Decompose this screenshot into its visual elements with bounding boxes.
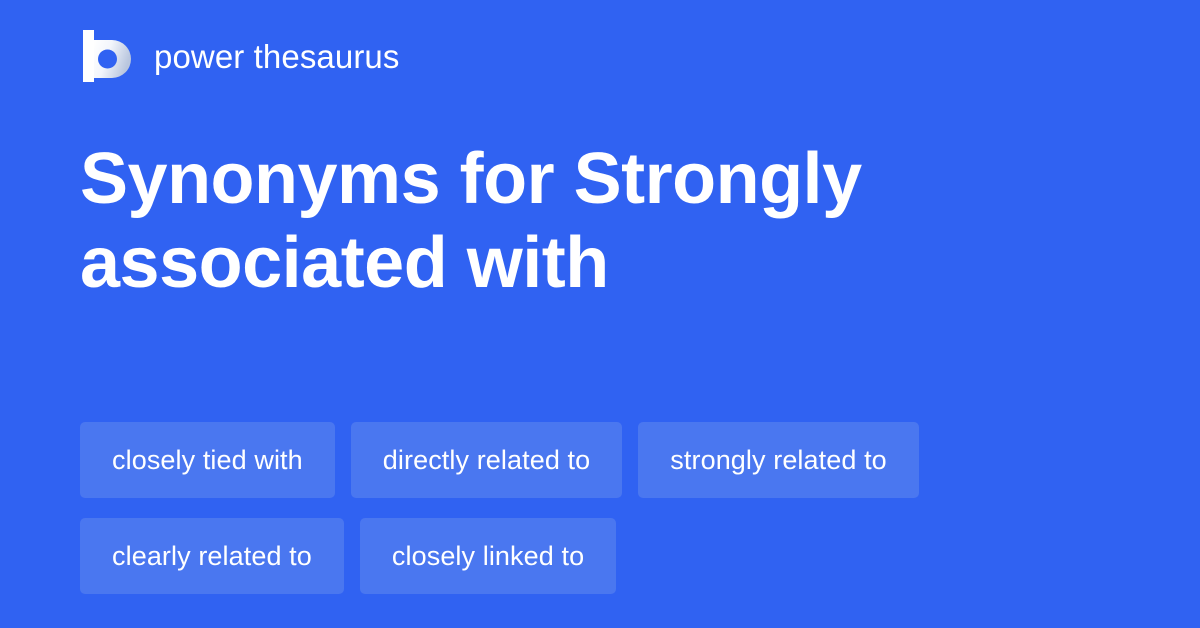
brand-header[interactable]: power thesaurus: [80, 28, 399, 84]
page-title: Synonyms for Strongly associated with: [80, 138, 1120, 305]
power-thesaurus-logo-icon: [80, 28, 136, 84]
synonym-chip[interactable]: strongly related to: [638, 422, 919, 498]
synonym-chip[interactable]: directly related to: [351, 422, 623, 498]
brand-name: power thesaurus: [154, 40, 399, 73]
synonym-chip[interactable]: clearly related to: [80, 518, 344, 594]
share-card: power thesaurus Synonyms for Strongly as…: [0, 0, 1200, 628]
page-title-line-1: Synonyms for Strongly: [80, 138, 1120, 222]
page-title-line-2: associated with: [80, 222, 1120, 306]
synonym-list: closely tied with directly related to st…: [80, 422, 1140, 594]
synonym-chip[interactable]: closely linked to: [360, 518, 616, 594]
synonym-chip[interactable]: closely tied with: [80, 422, 335, 498]
